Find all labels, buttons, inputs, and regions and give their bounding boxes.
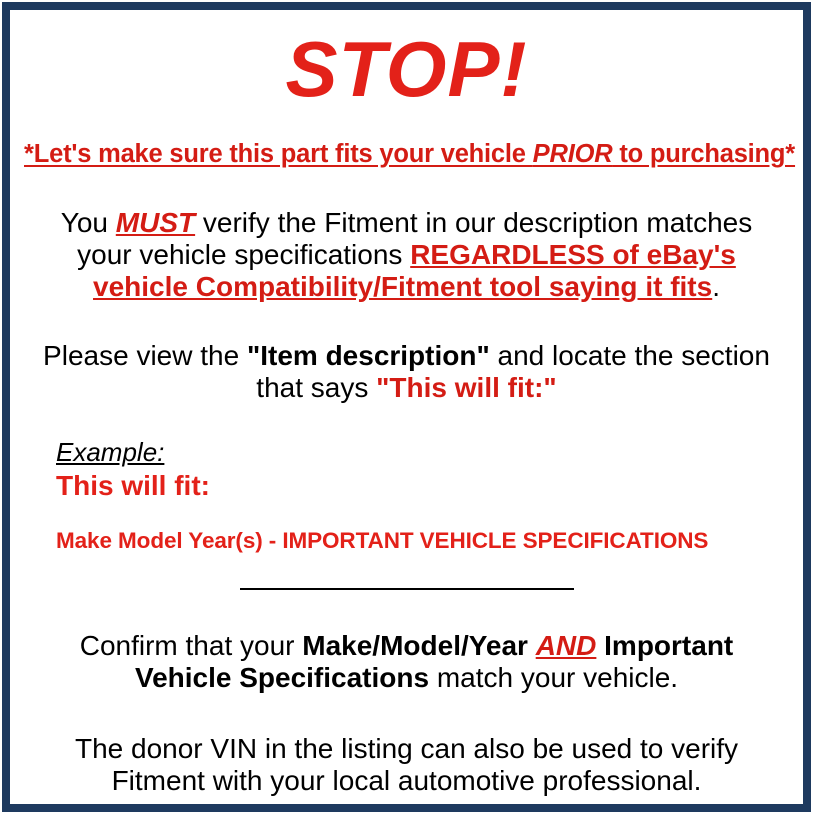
divider-wrap xyxy=(24,580,789,598)
view-text-1: Please view the xyxy=(43,340,247,371)
section-divider xyxy=(240,588,574,590)
example-block: Example: This will fit: Make Model Year(… xyxy=(24,438,789,554)
page-title: STOP! xyxy=(24,30,789,108)
subtitle-text-before: *Let's make sure this part fits your veh… xyxy=(24,140,533,168)
confirm-paragraph: Confirm that your Make/Model/Year AND Im… xyxy=(24,630,789,694)
confirm-text-3 xyxy=(596,630,604,661)
subtitle-warning: *Let's make sure this part fits your veh… xyxy=(24,140,789,169)
verify-fitment-paragraph: You MUST verify the Fitment in our descr… xyxy=(24,207,789,304)
notice-content: STOP! *Let's make sure this part fits yo… xyxy=(24,30,789,814)
subtitle-text-after: to purchasing* xyxy=(612,140,795,168)
example-fit-heading: This will fit: xyxy=(56,469,789,503)
confirm-text-2 xyxy=(528,630,536,661)
example-label: Example: xyxy=(56,438,164,467)
emphasis-must: MUST xyxy=(116,207,195,238)
fitment-notice-card: STOP! *Let's make sure this part fits yo… xyxy=(0,0,813,814)
confirm-text-1: Confirm that your xyxy=(80,630,303,661)
confirm-text-4: match your vehicle. xyxy=(429,662,678,693)
emphasis-make-model-year: Make/Model/Year xyxy=(302,630,528,661)
item-description-paragraph: Please view the "Item description" and l… xyxy=(24,340,789,404)
notice-border: STOP! *Let's make sure this part fits yo… xyxy=(2,2,811,812)
example-spec-line: Make Model Year(s) - IMPORTANT VEHICLE S… xyxy=(56,528,789,554)
subtitle-emphasis-prior: PRIOR xyxy=(533,140,613,168)
verify-text-3: . xyxy=(712,271,720,302)
example-label-row: Example: xyxy=(56,438,789,467)
emphasis-item-description: "Item description" xyxy=(247,340,490,371)
emphasis-this-will-fit: "This will fit:" xyxy=(376,372,557,403)
emphasis-and: AND xyxy=(536,630,597,661)
verify-text-1: You xyxy=(61,207,116,238)
donor-vin-paragraph: The donor VIN in the listing can also be… xyxy=(24,733,789,797)
